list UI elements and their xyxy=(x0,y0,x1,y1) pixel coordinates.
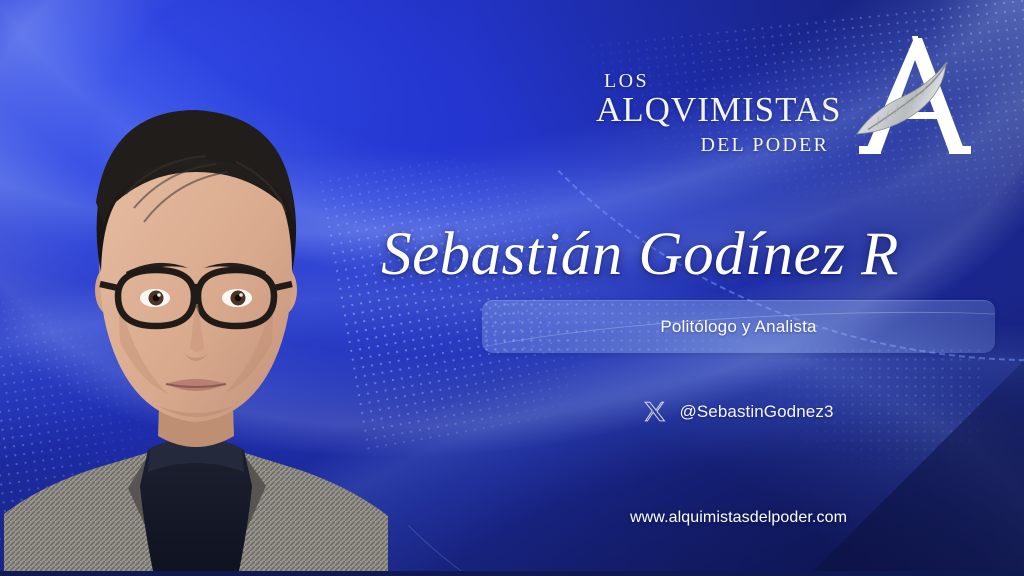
social-handle-text[interactable]: @SebastinGodnez3 xyxy=(679,402,833,422)
social-handle-row[interactable]: @SebastinGodnez3 xyxy=(482,400,995,423)
guest-role-bar: Politólogo y Analista xyxy=(482,300,995,353)
guest-name: Sebastián Godínez R xyxy=(0,224,1024,285)
brand-logo-line-del-poder: DEL PODER xyxy=(700,134,829,157)
guest-role-label: Politólogo y Analista xyxy=(660,317,816,337)
brand-logo[interactable]: LOS ALQVIMISTAS DEL PODER xyxy=(596,24,996,172)
guest-portrait xyxy=(0,76,392,576)
lower-third-title-card: LOS ALQVIMISTAS DEL PODER xyxy=(0,0,1024,576)
letter-a-with-quill-feather-icon xyxy=(845,28,985,168)
website-url[interactable]: www.alquimistasdelpoder.com xyxy=(482,509,995,527)
brand-logo-wordmark: LOS ALQVIMISTAS DEL PODER xyxy=(596,42,831,154)
x-twitter-icon[interactable] xyxy=(643,400,666,423)
bottom-edge-strip xyxy=(0,571,1024,576)
brand-logo-line-alquimistas: ALQVIMISTAS xyxy=(596,90,841,130)
